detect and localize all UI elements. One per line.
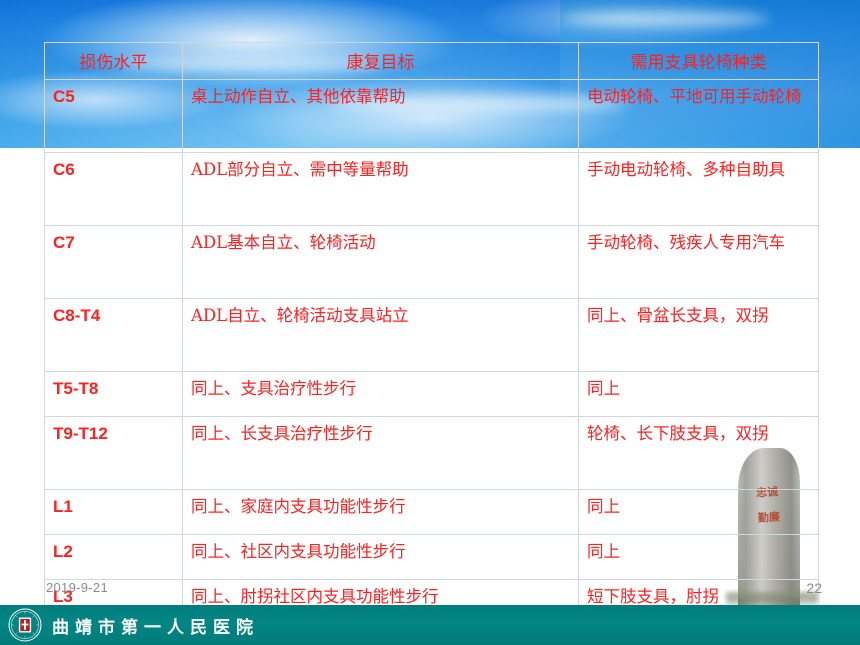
cell-injury-level: C8-T4	[45, 299, 183, 372]
cell-device-type: 同上	[579, 490, 819, 535]
slide-date: 2019-9-21	[46, 580, 108, 595]
footer-bar: 曲靖市第一人民医院	[0, 605, 860, 645]
table-header-row: 损伤水平 康复目标 需用支具轮椅种类	[45, 43, 819, 80]
table-row: C6ADL部分自立、需中等量帮助手动电动轮椅、多种自助具	[45, 153, 819, 226]
cell-rehab-goal: 同上、社区内支具功能性步行	[183, 535, 579, 580]
cell-rehab-goal: ADL部分自立、需中等量帮助	[183, 153, 579, 226]
table-header: 损伤水平 康复目标 需用支具轮椅种类	[45, 43, 819, 80]
hospital-logo-icon	[8, 608, 42, 642]
cell-injury-level: L2	[45, 535, 183, 580]
slide-canvas: 忠诚勤廉 损伤水平 康复目标 需用支具轮椅种类 C5桌上动作自立、其他依靠帮助电…	[0, 0, 860, 645]
cell-rehab-goal: 同上、家庭内支具功能性步行	[183, 490, 579, 535]
cell-rehab-goal: ADL基本自立、轮椅活动	[183, 226, 579, 299]
table-row: T5-T8同上、支具治疗性步行同上	[45, 372, 819, 417]
cell-injury-level: C6	[45, 153, 183, 226]
rehabilitation-goals-table: 损伤水平 康复目标 需用支具轮椅种类 C5桌上动作自立、其他依靠帮助电动轮椅、平…	[44, 42, 819, 645]
cell-injury-level: C7	[45, 226, 183, 299]
column-header-device-type: 需用支具轮椅种类	[579, 43, 819, 80]
table-row: L1同上、家庭内支具功能性步行同上	[45, 490, 819, 535]
table-row: T9-T12同上、长支具治疗性步行轮椅、长下肢支具，双拐	[45, 417, 819, 490]
page-number: 22	[806, 580, 822, 596]
table-body: C5桌上动作自立、其他依靠帮助电动轮椅、平地可用手动轮椅C6ADL部分自立、需中…	[45, 80, 819, 645]
cell-device-type: 同上、骨盆长支具，双拐	[579, 299, 819, 372]
cell-rehab-goal: 同上、支具治疗性步行	[183, 372, 579, 417]
table-row: C8-T4ADL自立、轮椅活动支具站立同上、骨盆长支具，双拐	[45, 299, 819, 372]
cell-device-type: 同上	[579, 372, 819, 417]
cell-rehab-goal: 同上、长支具治疗性步行	[183, 417, 579, 490]
rehabilitation-table-wrapper: 损伤水平 康复目标 需用支具轮椅种类 C5桌上动作自立、其他依靠帮助电动轮椅、平…	[44, 42, 818, 645]
cell-injury-level: T9-T12	[45, 417, 183, 490]
cell-injury-level: T5-T8	[45, 372, 183, 417]
column-header-injury-level: 损伤水平	[45, 43, 183, 80]
cell-device-type: 手动电动轮椅、多种自助具	[579, 153, 819, 226]
cell-injury-level: C5	[45, 80, 183, 153]
cell-device-type: 轮椅、长下肢支具，双拐	[579, 417, 819, 490]
cloud-wisp-icon	[560, 12, 770, 26]
table-row: C7ADL基本自立、轮椅活动手动轮椅、残疾人专用汽车	[45, 226, 819, 299]
cell-injury-level: L1	[45, 490, 183, 535]
cell-device-type: 同上	[579, 535, 819, 580]
table-row: L2同上、社区内支具功能性步行同上	[45, 535, 819, 580]
cell-device-type: 手动轮椅、残疾人专用汽车	[579, 226, 819, 299]
table-row: C5桌上动作自立、其他依靠帮助电动轮椅、平地可用手动轮椅	[45, 80, 819, 153]
cell-rehab-goal: ADL自立、轮椅活动支具站立	[183, 299, 579, 372]
column-header-rehab-goal: 康复目标	[183, 43, 579, 80]
cell-device-type: 电动轮椅、平地可用手动轮椅	[579, 80, 819, 153]
hospital-name: 曲靖市第一人民医院	[52, 613, 259, 638]
cell-rehab-goal: 桌上动作自立、其他依靠帮助	[183, 80, 579, 153]
